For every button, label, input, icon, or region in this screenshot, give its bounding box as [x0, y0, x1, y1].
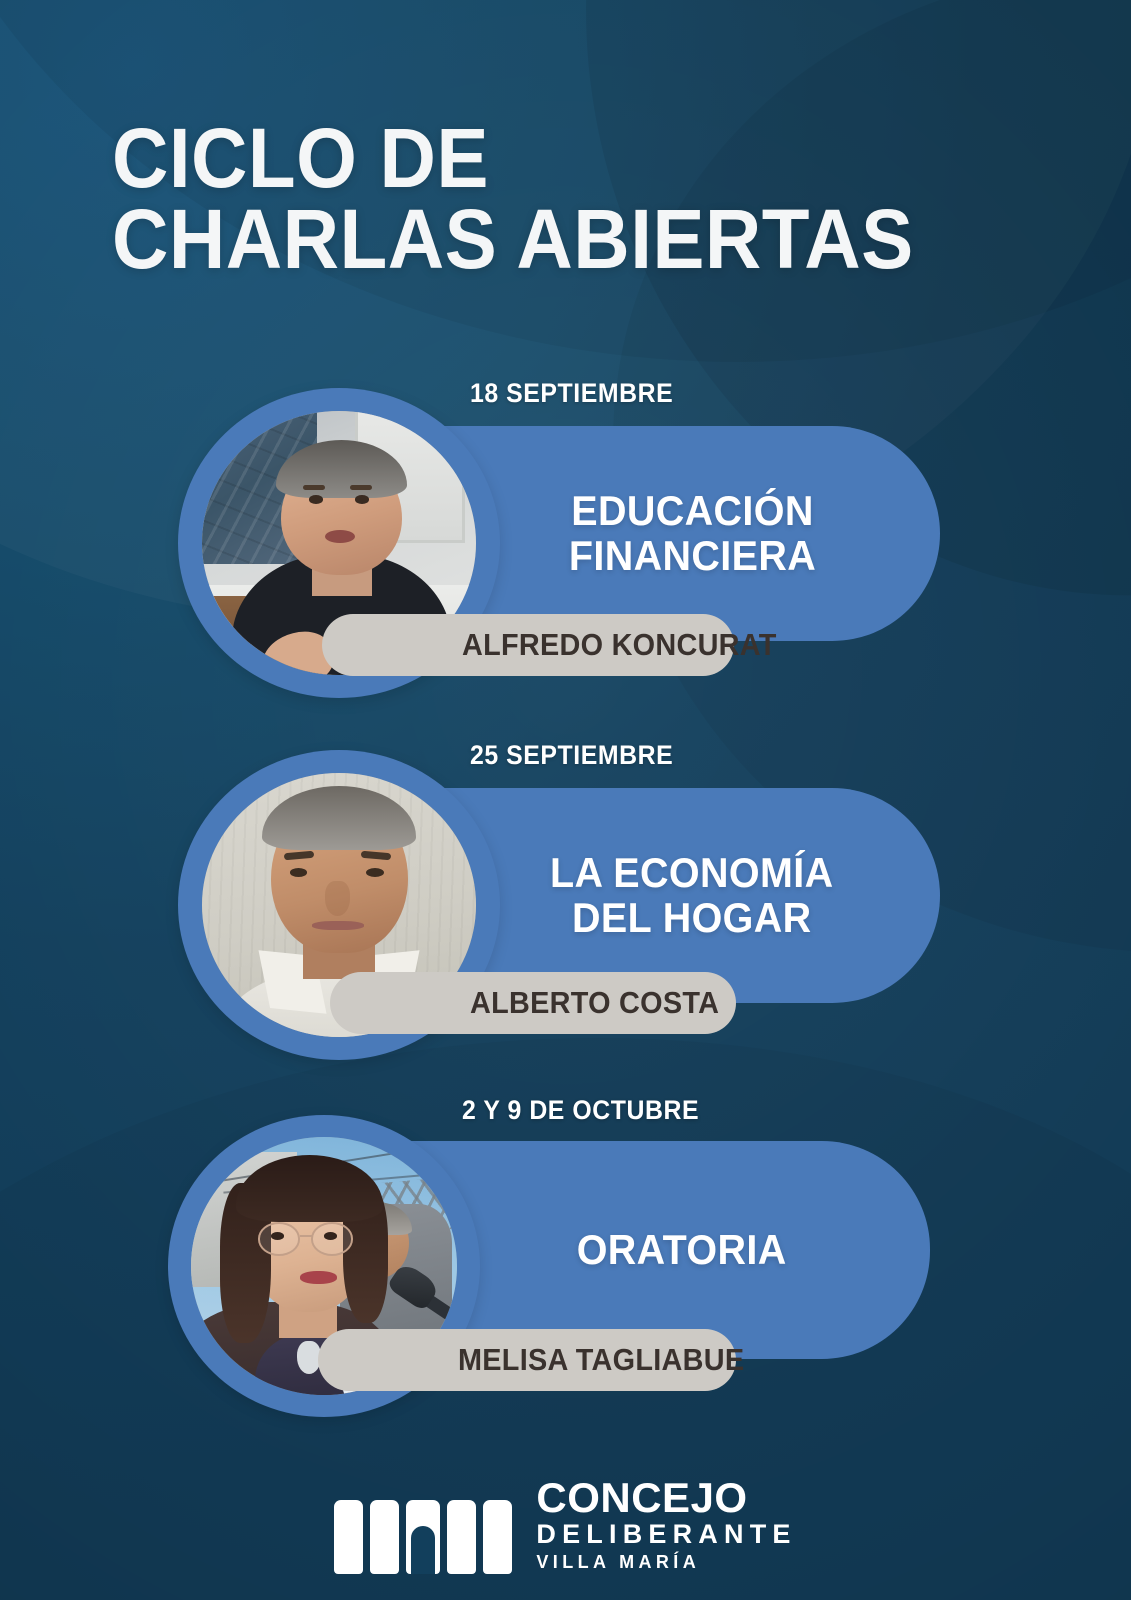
talk-date: 2 Y 9 DE OCTUBRE: [462, 1095, 699, 1126]
logo-column-1: [334, 1500, 363, 1574]
page-title-line1: CICLO DE: [112, 111, 489, 205]
talk-title: EDUCACIÓN FINANCIERA: [568, 489, 815, 579]
speaker-name-pill: ALFREDO KONCURAT: [322, 614, 734, 676]
logo-column-arch: [406, 1500, 440, 1574]
page-title-line2: CHARLAS ABIERTAS: [112, 199, 977, 280]
speaker-name: ALFREDO KONCURAT: [462, 627, 777, 663]
talk-date: 18 SEPTIEMBRE: [470, 378, 673, 409]
concejo-deliberante-logo-icon: [334, 1498, 512, 1574]
talk-date: 25 SEPTIEMBRE: [470, 740, 673, 771]
logo-line-deliberante: DELIBERANTE: [536, 1519, 796, 1551]
talk-card: 25 SEPTIEMBRE LA ECONOMÍA DEL HOGAR: [0, 722, 1131, 1082]
talk-card: 2 Y 9 DE OCTUBRE ORATORIA: [0, 1083, 1131, 1443]
talk-title: LA ECONOMÍA DEL HOGAR: [550, 851, 833, 941]
footer-logo: CONCEJO DELIBERANTE VILLA MARÍA: [0, 1477, 1131, 1574]
talk-card: 18 SEPTIEMBRE EDUCACIÓN FINANCIERA: [0, 360, 1131, 720]
logo-line-villa-maria: VILLA MARÍA: [536, 1551, 700, 1574]
logo-column-4: [447, 1500, 476, 1574]
talk-title: ORATORIA: [577, 1228, 787, 1273]
speaker-name-pill: ALBERTO COSTA: [330, 972, 736, 1034]
logo-column-2: [370, 1500, 399, 1574]
poster-canvas: CICLO DE CHARLAS ABIERTAS 18 SEPTIEMBRE …: [0, 0, 1131, 1600]
logo-wordmark: CONCEJO DELIBERANTE VILLA MARÍA: [536, 1477, 796, 1574]
speaker-name: MELISA TAGLIABUE: [458, 1342, 744, 1378]
logo-column-5: [483, 1500, 512, 1574]
speaker-name-pill: MELISA TAGLIABUE: [318, 1329, 736, 1391]
logo-line-concejo: CONCEJO: [536, 1477, 747, 1519]
speaker-name: ALBERTO COSTA: [470, 985, 719, 1021]
page-title: CICLO DE CHARLAS ABIERTAS: [112, 118, 977, 281]
